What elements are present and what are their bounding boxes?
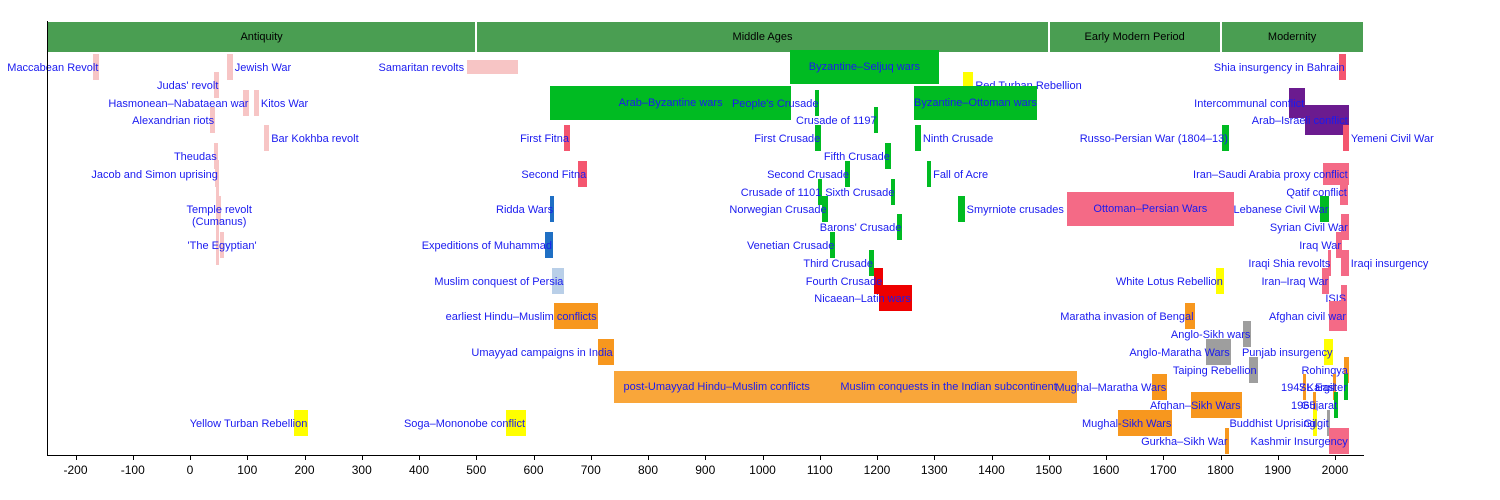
axis-tick-label: 300	[352, 463, 372, 477]
event-label: Mughal–Maratha Wars	[1055, 382, 1166, 394]
era-middle-ages: Middle Ages	[476, 21, 1049, 53]
event-label: Fourth Crusade	[806, 276, 882, 288]
axis-tick-label: 1300	[921, 463, 948, 477]
event-label: Arab–Israeli conflict	[1252, 115, 1348, 127]
event-marker[interactable]	[614, 371, 820, 403]
event-label: White Lotus Rebellion	[1116, 276, 1223, 288]
axis-tick	[877, 455, 878, 460]
event-label: Ninth Crusade	[923, 133, 993, 145]
event-marker[interactable]	[467, 60, 518, 74]
axis-tick-label: 1400	[978, 463, 1005, 477]
event-label: Kitos War	[261, 98, 308, 110]
event-label: Norwegian Crusade	[729, 204, 826, 216]
event-label: Crusade of 1101	[741, 187, 822, 199]
era-antiquity: Antiquity	[47, 21, 476, 53]
axis-spine-vertical	[47, 21, 48, 455]
axis-tick	[133, 455, 134, 460]
event-label: Crusade of 1197	[796, 115, 877, 127]
event-marker[interactable]	[227, 54, 233, 80]
event-label: Russo-Persian War (1804–13)	[1080, 133, 1228, 145]
axis-tick-label: 100	[237, 463, 257, 477]
event-marker[interactable]	[820, 371, 1078, 403]
event-label: First Fitna	[520, 133, 569, 145]
timeline-canvas: AntiquityMiddle AgesEarly Modern PeriodM…	[0, 0, 1500, 500]
event-label: Iran–Iraq War	[1261, 276, 1328, 288]
axis-tick	[591, 455, 592, 460]
event-label: Yemeni Civil War	[1351, 133, 1434, 145]
event-label: Iraq War	[1299, 240, 1341, 252]
axis-tick-label: 1800	[1207, 463, 1234, 477]
axis-tick-label: -200	[63, 463, 87, 477]
event-label: Third Crusade	[803, 258, 873, 270]
event-label: Gilgit	[1304, 418, 1329, 430]
axis-tick-label: 2000	[1322, 463, 1349, 477]
event-label: Gurkha–Sikh War	[1141, 436, 1227, 448]
axis-tick-label: 900	[695, 463, 715, 477]
event-label: Expeditions of Muhammad	[422, 240, 552, 252]
event-label: Fifth Crusade	[824, 151, 890, 163]
event-label: Fall of Acre	[933, 169, 988, 181]
axis-tick	[1049, 455, 1050, 460]
event-label: earliest Hindu–Muslim conflicts	[446, 311, 597, 323]
era-early-modern-period: Early Modern Period	[1049, 21, 1221, 53]
event-label: Bar Kokhba revolt	[271, 133, 358, 145]
event-label: Iraqi insurgency	[1351, 258, 1429, 270]
event-label: Taiping Rebellion	[1173, 365, 1257, 377]
axis-tick	[820, 455, 821, 460]
axis-tick-label: 1200	[864, 463, 891, 477]
event-marker[interactable]	[915, 125, 921, 151]
event-label: Samaritan revolts	[378, 62, 464, 74]
event-label: Temple revolt	[186, 204, 251, 216]
event-label: Qatif conflict	[1286, 187, 1347, 199]
event-label: Sixth Crusade	[825, 187, 894, 199]
axis-tick-label: 1600	[1093, 463, 1120, 477]
axis-tick-label: 0	[187, 463, 194, 477]
event-label: Theudas	[174, 151, 217, 163]
axis-tick	[362, 455, 363, 460]
event-label: Smyrniote crusades	[967, 204, 1064, 216]
axis-tick-label: 1700	[1150, 463, 1177, 477]
event-marker[interactable]	[1343, 125, 1349, 151]
event-label: Shia insurgency in Bahrain	[1214, 62, 1345, 74]
event-label: Muslim conquest of Persia	[434, 276, 563, 288]
event-marker[interactable]	[914, 86, 1037, 120]
event-label: First Crusade	[754, 133, 820, 145]
axis-tick-label: 800	[638, 463, 658, 477]
axis-tick-label: 1100	[807, 463, 833, 477]
event-label: Second Fitna	[521, 169, 586, 181]
axis-tick-label: 600	[523, 463, 543, 477]
event-label: Yellow Turban Rebellion	[190, 418, 308, 430]
event-label: Mughal-Sikh Wars	[1082, 418, 1171, 430]
axis-tick	[190, 455, 191, 460]
axis-tick	[1278, 455, 1279, 460]
event-label: Rohingya	[1301, 365, 1347, 377]
axis-tick	[1335, 455, 1336, 460]
axis-tick	[476, 455, 477, 460]
event-label: SL Easter	[1299, 382, 1347, 394]
event-marker[interactable]	[254, 90, 259, 116]
event-marker[interactable]	[1067, 192, 1234, 226]
axis-tick	[305, 455, 306, 460]
axis-tick	[1221, 455, 1222, 460]
event-label: Ridda Wars	[496, 204, 553, 216]
axis-tick-label: 200	[294, 463, 314, 477]
axis-tick	[934, 455, 935, 460]
axis-tick	[1106, 455, 1107, 460]
event-label: Jewish War	[235, 62, 291, 74]
axis-tick	[534, 455, 535, 460]
event-label: Nicaean–Latin wars	[814, 293, 911, 305]
axis-tick-label: 1900	[1264, 463, 1291, 477]
axis-tick-label: -100	[121, 463, 145, 477]
event-label: Gujarat	[1301, 400, 1337, 412]
event-label: Anglo-Maratha Wars	[1129, 347, 1229, 359]
event-marker[interactable]	[927, 161, 931, 187]
era-label: Early Modern Period	[1084, 31, 1184, 43]
axis-tick-label: 700	[581, 463, 601, 477]
event-label: 'The Egyptian'	[188, 240, 257, 252]
event-marker[interactable]	[264, 125, 269, 151]
axis-tick	[1163, 455, 1164, 460]
event-sublabel: (Cumanus)	[192, 216, 246, 228]
axis-tick	[705, 455, 706, 460]
event-label: Intercommunal conflict	[1194, 98, 1304, 110]
axis-tick	[76, 455, 77, 460]
event-label: Iran–Saudi Arabia proxy conflict	[1193, 169, 1348, 181]
axis-tick-label: 1000	[749, 463, 776, 477]
event-label: Jacob and Simon uprising	[91, 169, 218, 181]
event-label: Lebanese Civil War	[1234, 204, 1329, 216]
axis-tick-label: 1500	[1035, 463, 1062, 477]
axis-tick-label: 400	[409, 463, 429, 477]
event-marker[interactable]	[790, 50, 939, 84]
event-label: Afghan civil war	[1269, 311, 1346, 323]
event-label: Iraqi Shia revolts	[1248, 258, 1330, 270]
era-label: Modernity	[1268, 31, 1316, 43]
event-label: Judas' revolt	[157, 80, 218, 92]
event-label: Kashmir Insurgency	[1251, 436, 1348, 448]
event-label: Venetian Crusade	[747, 240, 834, 252]
event-label: Maccabean Revolt	[7, 62, 98, 74]
era-label: Antiquity	[240, 31, 282, 43]
event-label: Hasmonean–Nabataean war	[108, 98, 248, 110]
event-label: Second Crusade	[767, 169, 849, 181]
axis-tick	[247, 455, 248, 460]
axis-tick-label: 500	[466, 463, 486, 477]
event-label: Maratha invasion of Bengal	[1060, 311, 1193, 323]
event-marker[interactable]	[958, 196, 965, 222]
era-modernity: Modernity	[1221, 21, 1364, 53]
axis-tick	[648, 455, 649, 460]
event-label: Umayyad campaigns in India	[471, 347, 612, 359]
era-label: Middle Ages	[733, 31, 793, 43]
event-label: People's Crusade	[732, 98, 819, 110]
event-label: Punjab insurgency	[1242, 347, 1333, 359]
axis-tick	[992, 455, 993, 460]
event-marker[interactable]	[1341, 250, 1348, 276]
event-label: Alexandrian riots	[132, 115, 214, 127]
axis-tick	[419, 455, 420, 460]
axis-tick	[763, 455, 764, 460]
event-label: Soga–Mononobe conflict	[404, 418, 525, 430]
